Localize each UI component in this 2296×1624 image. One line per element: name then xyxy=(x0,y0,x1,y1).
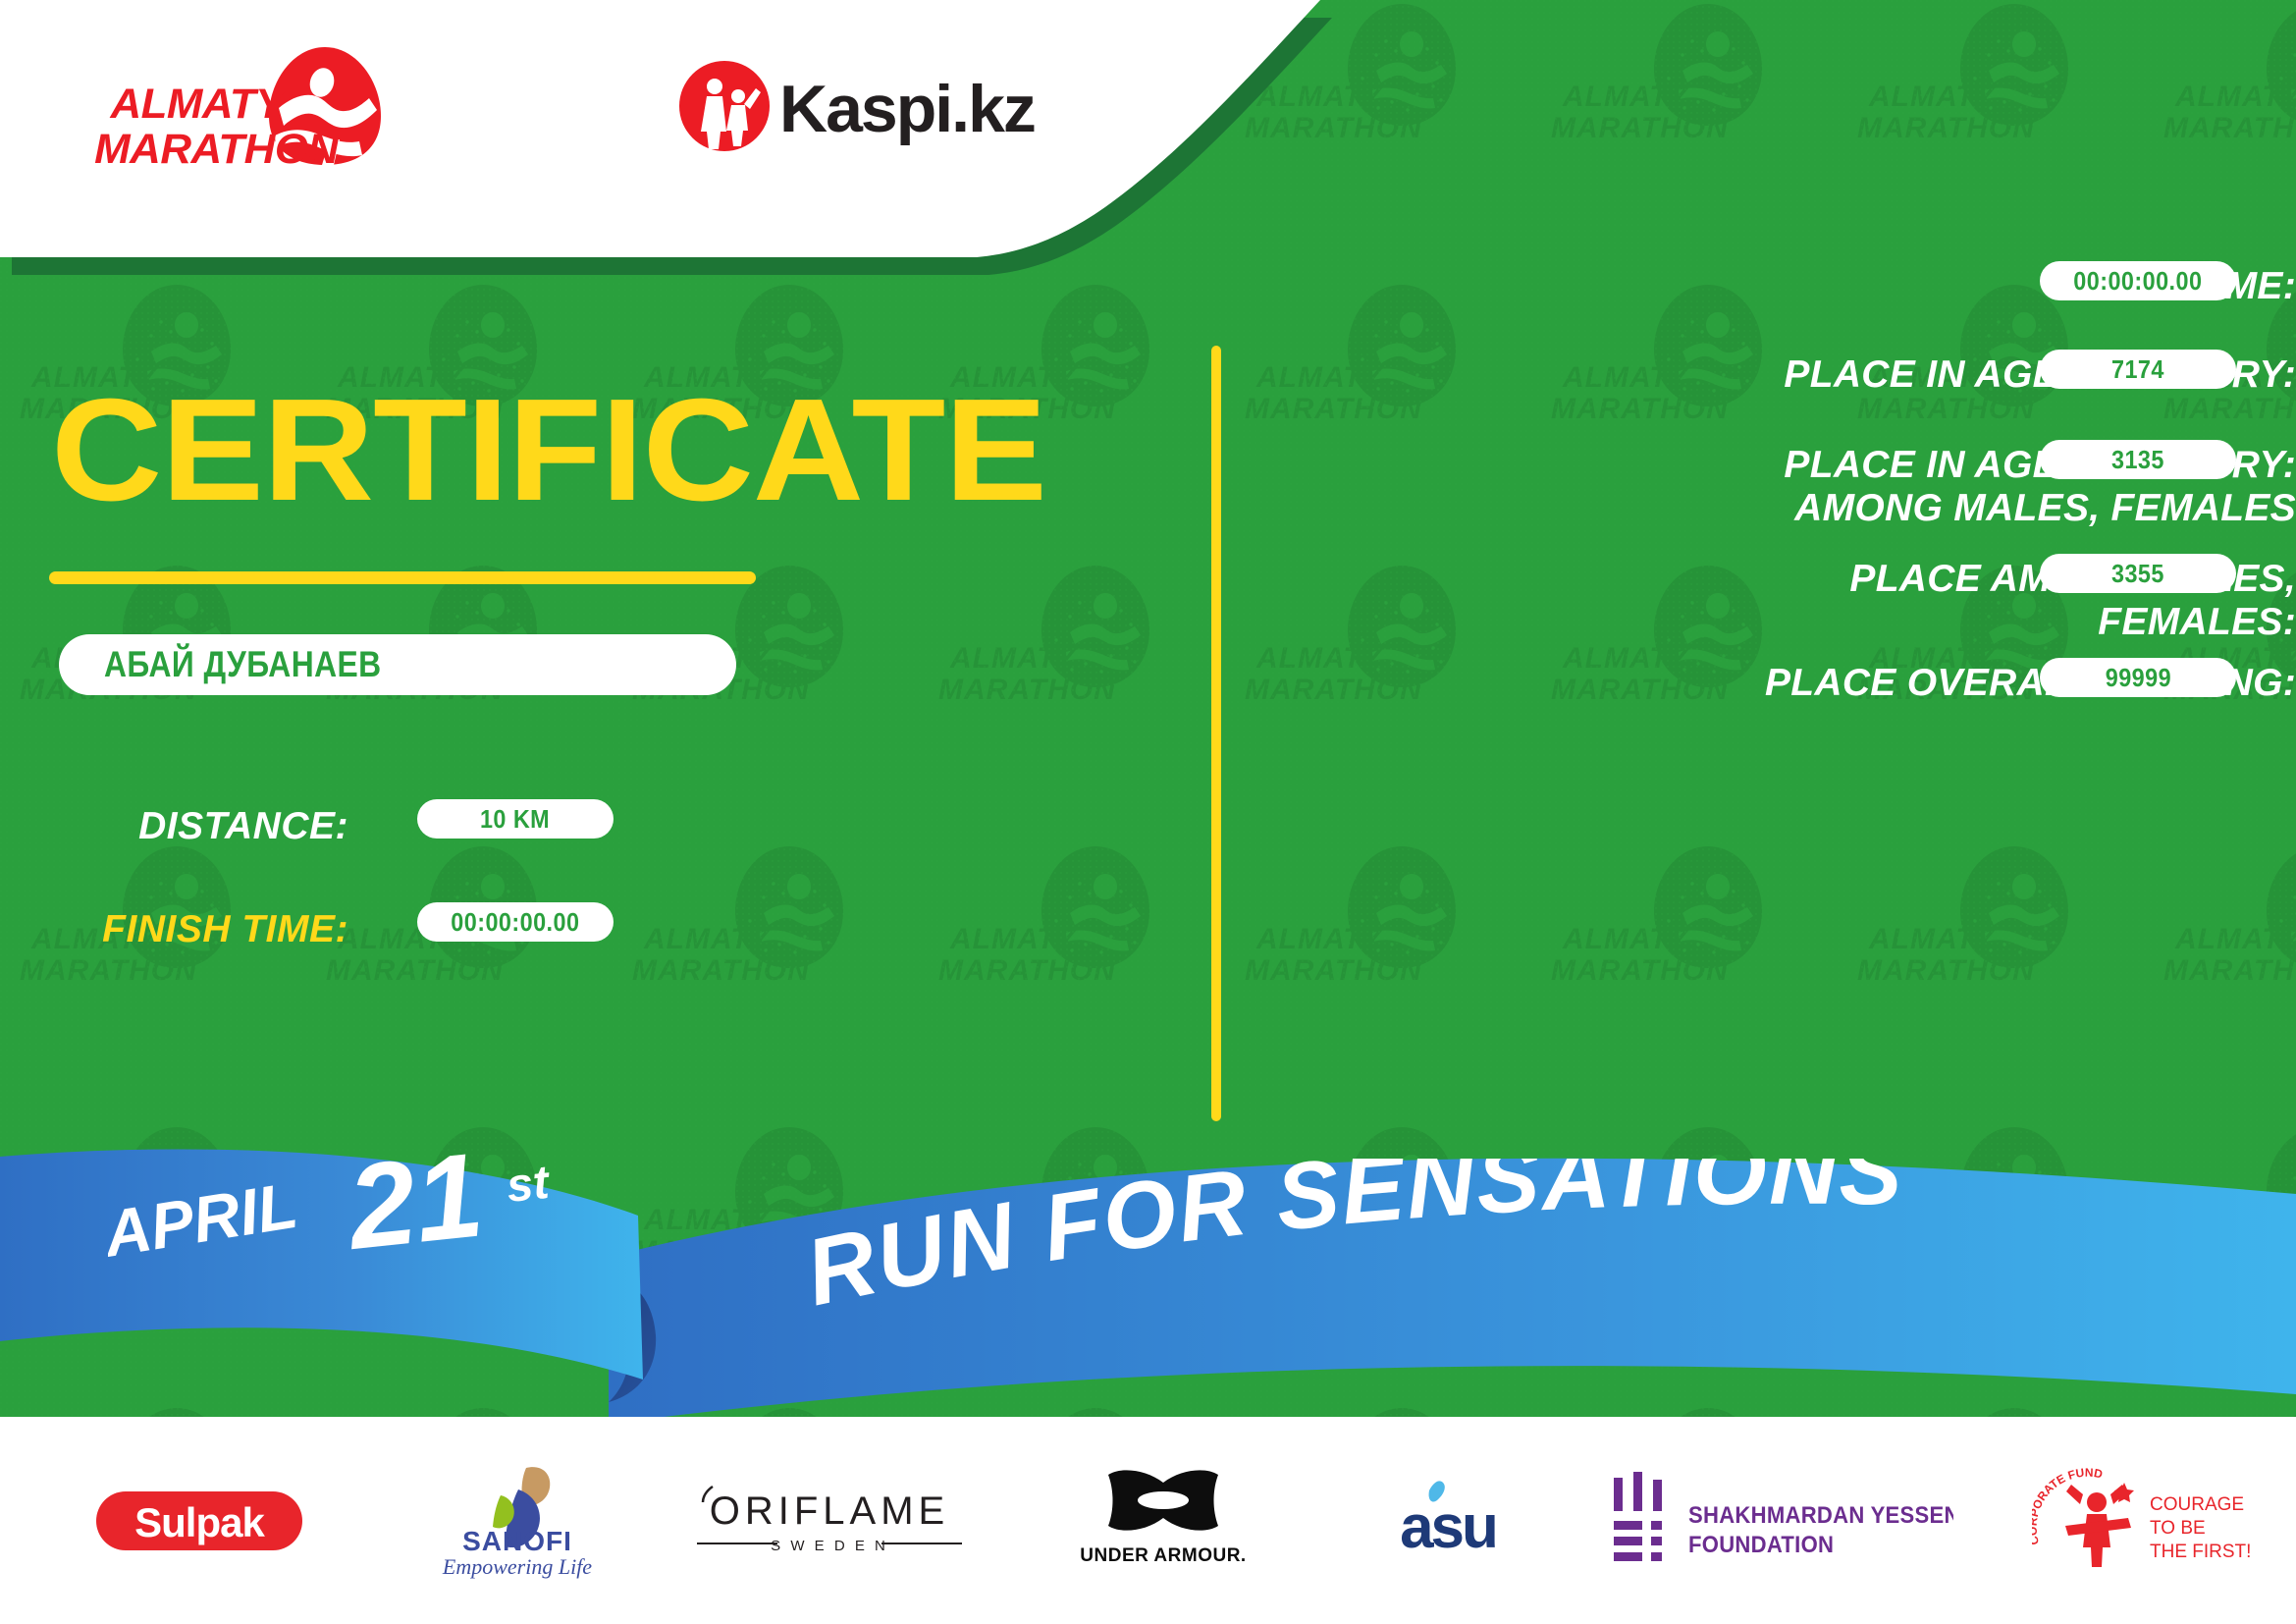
sponsor-line-1: COURAGE xyxy=(2150,1494,2244,1515)
finish-time-value-pill: 00:00:00.00 xyxy=(417,902,614,942)
sponsor-tagline: Empowering Life xyxy=(442,1554,592,1579)
distance-label: DISTANCE: xyxy=(138,805,348,848)
sponsor-label: SANOFI xyxy=(462,1526,572,1556)
stat-value: 00:00:00.00 xyxy=(2073,266,2202,297)
sponsor-label: UNDER ARMOUR. xyxy=(1080,1545,1246,1566)
sponsor-logo-sanofi: SANOFI Empowering Life xyxy=(424,1462,611,1580)
page-title: CERTIFICATE xyxy=(51,378,1046,523)
stat-value: 3135 xyxy=(2111,445,2164,475)
certificate-page: ALMATY MARATHON xyxy=(0,0,2296,1624)
sponsor-logo-under-armour: UNDER ARMOUR. xyxy=(1075,1467,1252,1575)
stat-value: 3355 xyxy=(2111,559,2164,589)
sponsor-label: asu xyxy=(1400,1493,1496,1561)
distance-value-pill: 10 KM xyxy=(417,799,614,839)
sponsor-line-3: THE FIRST! xyxy=(2150,1542,2251,1562)
sponsor-line-2: TO BE xyxy=(2150,1518,2206,1539)
participant-name-value: АБАЙ ДУБАНАЕВ xyxy=(104,644,382,685)
finish-time-row: FINISH TIME: 00:00:00.00 xyxy=(0,908,982,957)
sponsor-label: Sulpak xyxy=(134,1499,265,1545)
stat-value-pill: 99999 xyxy=(2040,658,2236,697)
sponsor-label: SHAKHMARDAN YESSENOV xyxy=(1688,1501,1953,1528)
blue-ribbon-banner xyxy=(0,1100,2296,1434)
stat-value: 99999 xyxy=(2105,663,2170,693)
title-divider xyxy=(49,571,756,584)
sponsor-label: ORIFLAME xyxy=(710,1489,949,1533)
sponsor-label-2: FOUNDATION xyxy=(1688,1531,1834,1557)
stat-value-pill: 00:00:00.00 xyxy=(2040,261,2236,300)
sponsor-logo-sulpak: Sulpak xyxy=(96,1484,302,1558)
sponsor-logo-yessenov-foundation: SHAKHMARDAN YESSENOV FOUNDATION xyxy=(1610,1472,1953,1570)
stat-value-pill: 7174 xyxy=(2040,350,2236,389)
sponsor-logo-asu: asu xyxy=(1364,1477,1531,1565)
stat-value: 7174 xyxy=(2111,354,2164,385)
finish-time-label: FINISH TIME: xyxy=(102,908,348,951)
sponsor-tagline: S W E D E N xyxy=(771,1538,888,1554)
distance-row: DISTANCE: 10 KM xyxy=(0,805,982,854)
participant-name-field: АБАЙ ДУБАНАЕВ xyxy=(59,634,736,695)
stat-value-pill: 3135 xyxy=(2040,440,2236,479)
stat-value-pill: 3355 xyxy=(2040,554,2236,593)
finish-time-value: 00:00:00.00 xyxy=(451,907,579,938)
sponsor-logo-corporate-fund: CORPORATE FUND COURAGE TO BE THE FIRST! xyxy=(2032,1467,2258,1575)
sponsor-strip: Sulpak SANOFI Empowering Life ORIFLAME S… xyxy=(0,1417,2296,1624)
sponsor-logo-oriflame: ORIFLAME S W E D E N xyxy=(687,1477,972,1565)
distance-value: 10 KM xyxy=(480,804,550,835)
